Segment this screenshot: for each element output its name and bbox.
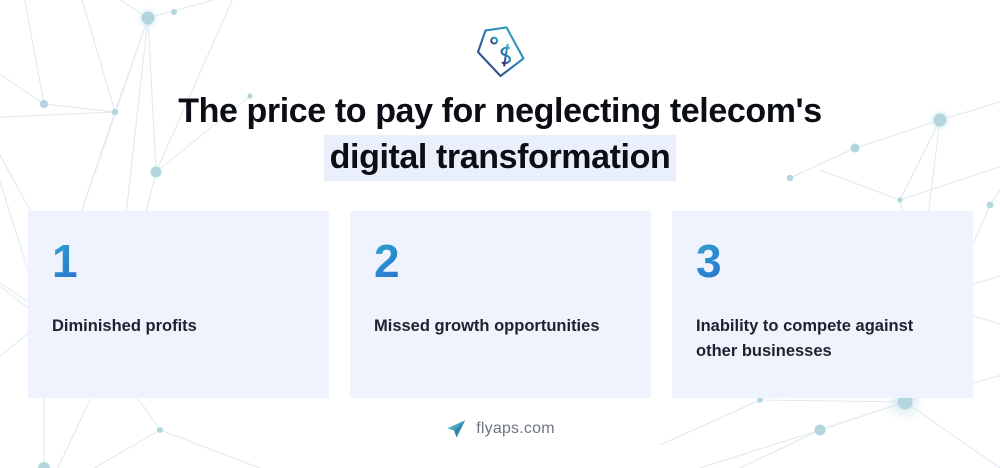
title-line-1: The price to pay for neglecting telecom'… — [0, 88, 1000, 134]
footer-branding[interactable]: flyaps.com — [0, 418, 1000, 440]
reason-card-2[interactable]: 2 Missed growth opportunities — [350, 211, 651, 398]
card-number: 2 — [374, 238, 399, 284]
price-tag-dollar-icon — [466, 24, 534, 82]
brand-name: flyaps.com — [476, 420, 554, 438]
slide-canvas: The price to pay for neglecting telecom'… — [0, 0, 1000, 468]
card-number: 1 — [52, 238, 77, 284]
card-label: Missed growth opportunities — [374, 314, 627, 339]
card-label: Diminished profits — [52, 314, 305, 339]
flyaps-paper-plane-icon — [445, 418, 467, 440]
reason-cards: 1 Diminished profits 2 Missed growth opp… — [28, 211, 973, 398]
reason-card-3[interactable]: 3 Inability to compete against other bus… — [672, 211, 973, 398]
card-number: 3 — [696, 238, 721, 284]
title-line-2: digital transformation — [0, 134, 1000, 180]
card-label: Inability to compete against other busin… — [696, 314, 949, 364]
title-highlight: digital transformation — [324, 135, 677, 181]
page-title: The price to pay for neglecting telecom'… — [0, 88, 1000, 180]
reason-card-1[interactable]: 1 Diminished profits — [28, 211, 329, 398]
